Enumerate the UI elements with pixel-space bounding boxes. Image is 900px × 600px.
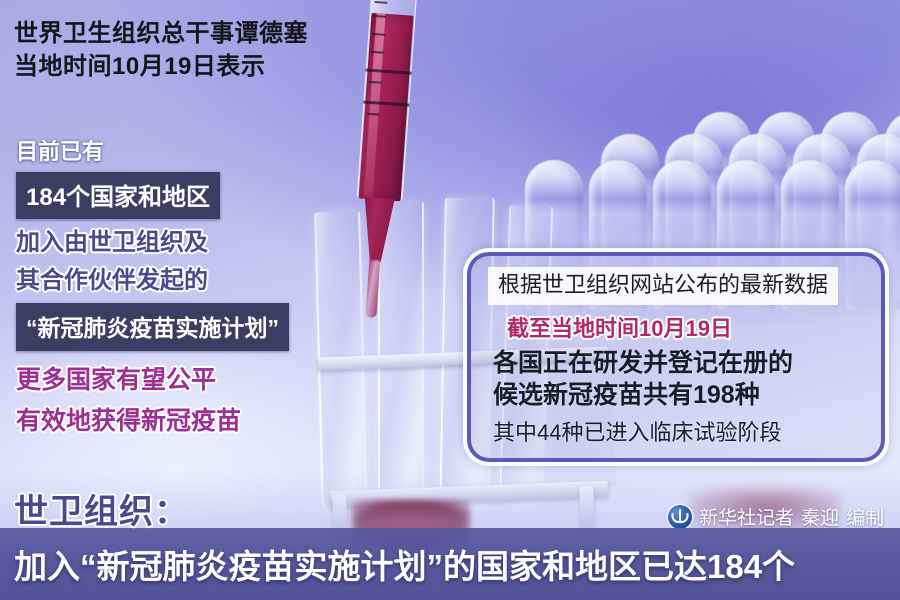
panel-source-note: 根据世卫组织网站公布的最新数据: [489, 268, 837, 304]
left-text-block: 目前已有 184个国家和地区 加入由世卫组织及 其合作伙伴发起的 “新冠肺炎疫苗…: [16, 134, 346, 444]
header-line-2: 当地时间10月19日表示: [14, 51, 308, 84]
highlight-program-wrap: “新冠肺炎疫苗实施计划”: [16, 303, 346, 351]
credit-agency: 新华社记者: [699, 503, 794, 530]
highlight-count-wrap: 184个国家和地区: [16, 172, 346, 219]
highlight-count-chip: 184个国家和地区: [16, 172, 220, 219]
who-label: 世卫组织：: [14, 484, 189, 533]
left-intro-text: 目前已有: [16, 134, 346, 166]
left-body-line-2: 其合作伙伴发起的: [16, 265, 346, 297]
highlight-count-text: 184个国家和地区: [26, 184, 210, 211]
panel-bold-line-2: 候选新冠疫苗共有198种: [493, 379, 875, 412]
header-attribution: 世界卫生组织总干事谭德塞 当地时间10月19日表示: [14, 18, 308, 83]
left-outcome-line-2: 有效地获得新冠疫苗: [16, 404, 346, 439]
header-line-1: 世界卫生组织总干事谭德塞: [14, 18, 308, 51]
xinhua-logo-icon: [668, 505, 692, 529]
credit-line: 新华社记者 秦迎 编制: [668, 503, 884, 530]
highlight-program-text: “新冠肺炎疫苗实施计划”: [26, 315, 279, 341]
credit-role: 编制: [846, 503, 884, 530]
data-panel-content: 根据世卫组织网站公布的最新数据 截至当地时间10月19日 各国正在研发并登记在册…: [489, 268, 875, 447]
left-body-line-1: 加入由世卫组织及: [16, 227, 346, 259]
highlight-program-chip: “新冠肺炎疫苗实施计划”: [16, 303, 289, 351]
left-outcome-line-1: 更多国家有望公平: [16, 363, 346, 398]
panel-bold-line-1: 各国正在研发并登记在册的: [493, 347, 875, 380]
panel-as-of-date: 截至当地时间10月19日: [507, 311, 875, 343]
content-layer: 世界卫生组织总干事谭德塞 当地时间10月19日表示 目前已有 184个国家和地区…: [0, 0, 900, 600]
data-panel: 根据世卫组织网站公布的最新数据 截至当地时间10月19日 各国正在研发并登记在册…: [463, 248, 889, 466]
infographic-canvas: 世界卫生组织总干事谭德塞 当地时间10月19日表示 目前已有 184个国家和地区…: [0, 0, 900, 600]
panel-sub-line: 其中44种已进入临床试验阶段: [493, 415, 875, 447]
panel-source-wrap: 根据世卫组织网站公布的最新数据: [489, 268, 875, 304]
credit-author: 秦迎: [801, 503, 839, 530]
bottom-banner-headline: 加入“新冠肺炎疫苗实施计划”的国家和地区已达184个: [14, 540, 894, 588]
